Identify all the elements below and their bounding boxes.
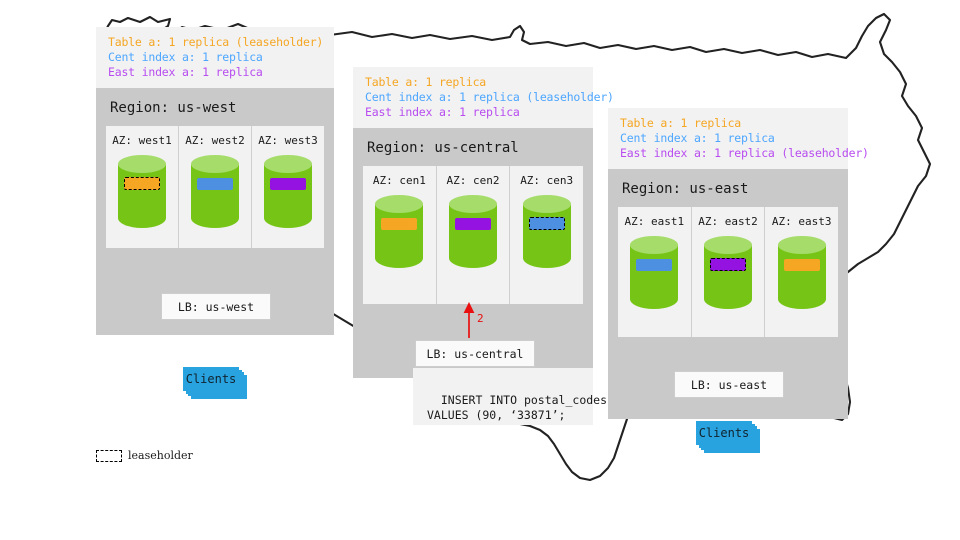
lb-us-west[interactable]: LB: us-west — [161, 293, 271, 320]
replica-bar-cent-index-a — [636, 259, 672, 271]
cylinder-body — [523, 204, 571, 268]
cylinder-top — [778, 236, 826, 254]
info-panel-us-central: Table a: 1 replica Cent index a: 1 repli… — [353, 67, 593, 128]
az-container-us-west: AZ: west1 AZ: west2 AZ: west3 — [106, 126, 324, 248]
cylinder-body — [704, 245, 752, 309]
clients-us-west[interactable]: Clients — [183, 367, 247, 399]
node-cylinder-east1[interactable] — [630, 236, 678, 318]
region-body-us-west: Region: us-west AZ: west1 AZ: west2 — [96, 88, 334, 335]
cylinder-top — [191, 155, 239, 173]
replica-bar-table-a — [784, 259, 820, 271]
info-line-cent-index-a: Cent index a: 1 replica — [108, 50, 322, 65]
lb-us-east[interactable]: LB: us-east — [674, 371, 784, 398]
replica-bar-east-index-a — [270, 178, 306, 190]
info-line-east-index-a: East index a: 1 replica — [108, 65, 322, 80]
cylinder-top — [375, 195, 423, 213]
cylinder-body — [375, 204, 423, 268]
replica-bar-cent-index-a — [529, 217, 565, 230]
region-title-us-central: Region: us-central — [353, 128, 593, 166]
node-cylinder-west1[interactable] — [118, 155, 166, 236]
info-line-east-index-a: East index a: 1 replica — [365, 105, 581, 120]
az-west1[interactable]: AZ: west1 — [106, 126, 178, 248]
az-container-us-east: AZ: east1 AZ: east2 AZ: east3 — [618, 207, 838, 337]
az-label-west1: AZ: west1 — [112, 134, 172, 147]
region-title-us-west: Region: us-west — [96, 88, 334, 126]
cylinder-body — [778, 245, 826, 309]
az-east2[interactable]: AZ: east2 — [691, 207, 765, 337]
az-cen3[interactable]: AZ: cen3 — [509, 166, 583, 304]
az-label-cen1: AZ: cen1 — [373, 174, 426, 187]
region-body-us-central: Region: us-central AZ: cen1 AZ: cen2 — [353, 128, 593, 378]
lb-label: LB: us-central — [427, 347, 524, 361]
az-label-east2: AZ: east2 — [698, 215, 758, 228]
az-east3[interactable]: AZ: east3 — [764, 207, 838, 337]
node-cylinder-east3[interactable] — [778, 236, 826, 318]
node-cylinder-west3[interactable] — [264, 155, 312, 236]
cylinder-body — [630, 245, 678, 309]
lb-us-central[interactable]: LB: us-central — [415, 340, 535, 367]
az-label-west3: AZ: west3 — [258, 134, 318, 147]
info-panel-us-east: Table a: 1 replica Cent index a: 1 repli… — [608, 108, 848, 169]
replica-bar-table-a — [381, 218, 417, 230]
az-label-east3: AZ: east3 — [772, 215, 832, 228]
region-card-us-west: Table a: 1 replica (leaseholder) Cent in… — [96, 27, 334, 335]
cylinder-top — [704, 236, 752, 254]
node-cylinder-cen1[interactable] — [375, 195, 423, 277]
sql-text: INSERT INTO postal_codes VALUES (90, ‘33… — [427, 393, 607, 422]
replica-bar-cent-index-a — [197, 178, 233, 190]
node-cylinder-cen3[interactable] — [523, 195, 571, 277]
region-card-us-central: Table a: 1 replica Cent index a: 1 repli… — [353, 67, 593, 378]
info-line-table-a: Table a: 1 replica — [365, 75, 581, 90]
cylinder-body — [191, 164, 239, 228]
cylinder-top — [630, 236, 678, 254]
cylinder-top — [523, 195, 571, 213]
arrow-step-number: 2 — [477, 312, 484, 325]
clients-box[interactable]: Clients — [183, 367, 239, 391]
clients-label: Clients — [186, 372, 237, 386]
az-container-us-central: AZ: cen1 AZ: cen2 AZ: cen3 — [363, 166, 583, 304]
info-line-east-index-a: East index a: 1 replica (leaseholder) — [620, 146, 836, 161]
node-cylinder-cen2[interactable] — [449, 195, 497, 277]
az-cen2[interactable]: AZ: cen2 — [436, 166, 510, 304]
lb-label: LB: us-west — [178, 300, 254, 314]
legend-label: leaseholder — [128, 449, 193, 462]
az-label-cen2: AZ: cen2 — [447, 174, 500, 187]
region-card-us-east: Table a: 1 replica Cent index a: 1 repli… — [608, 108, 848, 419]
clients-box[interactable]: Clients — [696, 421, 752, 445]
region-title-us-east: Region: us-east — [608, 169, 848, 207]
cylinder-top — [449, 195, 497, 213]
az-label-west2: AZ: west2 — [185, 134, 245, 147]
lb-label: LB: us-east — [691, 378, 767, 392]
replica-bar-east-index-a — [455, 218, 491, 230]
replica-bar-east-index-a — [710, 258, 746, 271]
node-cylinder-east2[interactable] — [704, 236, 752, 318]
cylinder-body — [118, 164, 166, 228]
leaseholder-swatch-icon — [96, 450, 122, 462]
region-body-us-east: Region: us-east AZ: east1 AZ: east2 — [608, 169, 848, 419]
cylinder-body — [449, 204, 497, 268]
cylinder-body — [264, 164, 312, 228]
sql-statement-panel: INSERT INTO postal_codes VALUES (90, ‘33… — [413, 368, 593, 425]
replica-bar-table-a — [124, 177, 160, 190]
info-panel-us-west: Table a: 1 replica (leaseholder) Cent in… — [96, 27, 334, 88]
cylinder-top — [264, 155, 312, 173]
info-line-cent-index-a: Cent index a: 1 replica (leaseholder) — [365, 90, 581, 105]
info-line-cent-index-a: Cent index a: 1 replica — [620, 131, 836, 146]
clients-label: Clients — [699, 426, 750, 440]
az-label-cen3: AZ: cen3 — [520, 174, 573, 187]
node-cylinder-west2[interactable] — [191, 155, 239, 236]
az-east1[interactable]: AZ: east1 — [618, 207, 691, 337]
az-label-east1: AZ: east1 — [625, 215, 685, 228]
legend: leaseholder — [96, 449, 193, 462]
info-line-table-a: Table a: 1 replica (leaseholder) — [108, 35, 322, 50]
clients-us-east[interactable]: Clients — [696, 421, 760, 453]
az-cen1[interactable]: AZ: cen1 — [363, 166, 436, 304]
az-west2[interactable]: AZ: west2 — [178, 126, 251, 248]
info-line-table-a: Table a: 1 replica — [620, 116, 836, 131]
az-west3[interactable]: AZ: west3 — [251, 126, 324, 248]
cylinder-top — [118, 155, 166, 173]
